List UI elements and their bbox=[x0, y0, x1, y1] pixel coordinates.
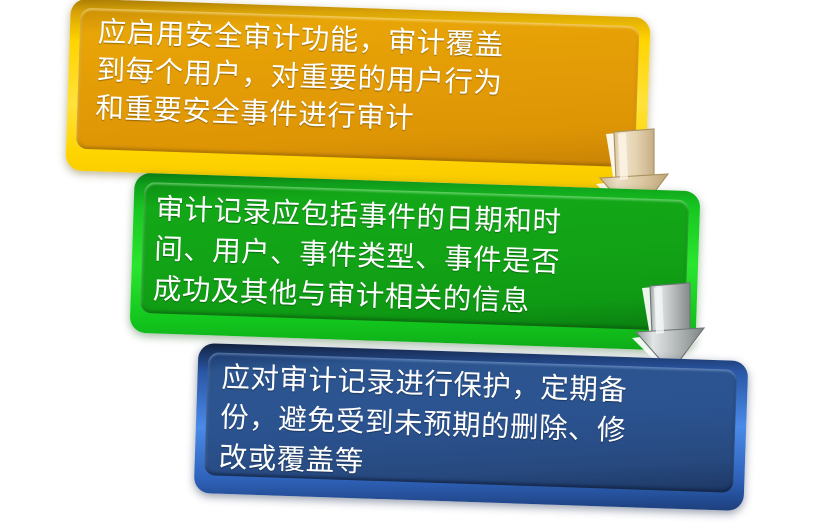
blue-box-text-line-3: 改或覆盖等 bbox=[218, 438, 364, 483]
process-step-blue[interactable]: 应对审计记录进行保护，定期备 份，避免受到未预期的删除、修 改或覆盖等 bbox=[194, 343, 749, 511]
process-step-green[interactable]: 审计记录应包括事件的日期和时 间、用户、事件类型、事件是否 成功及其他与审计相关… bbox=[130, 173, 701, 352]
process-step-gold[interactable]: 应启用安全审计功能，审计覆盖 到每个用户，对重要的用户行为 和重要安全事件进行审… bbox=[65, 0, 650, 190]
diagram-canvas: 应启用安全审计功能，审计覆盖 到每个用户，对重要的用户行为 和重要安全事件进行审… bbox=[0, 0, 816, 524]
